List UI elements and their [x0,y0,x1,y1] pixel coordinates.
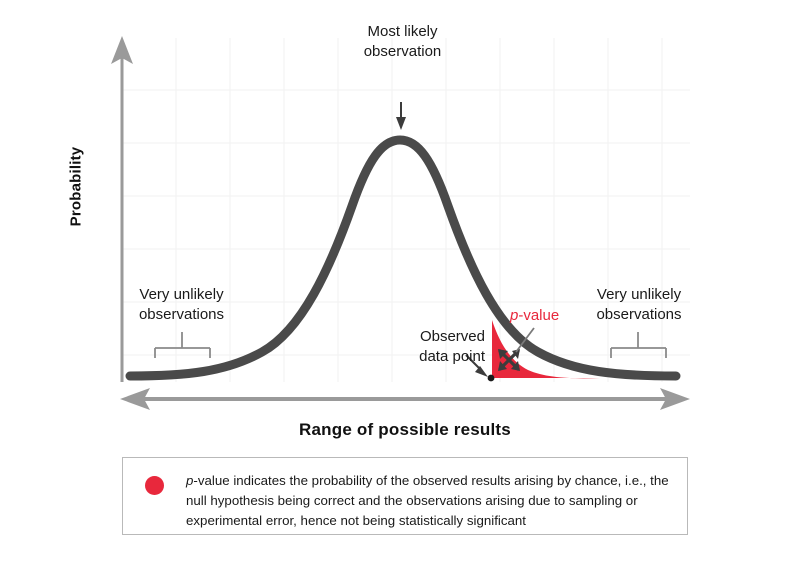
observed-data-point-dot [488,375,495,382]
most-likely-observation-label: Most likely observation [330,22,475,63]
most-likely-arrow [396,102,406,130]
p-value-label-suffix: -value [518,307,559,324]
observed-data-point-label: Observed data point [380,327,485,368]
legend-caption-text: p-value indicates the probability of the… [186,471,669,532]
x-axis-title: Range of possible results [120,420,690,440]
very-unlikely-right-bracket [611,332,666,358]
very-unlikely-right-label: Very unlikely observations [580,285,698,326]
p-value-distribution-figure: Most likely observation Very unlikely ob… [0,0,800,568]
p-value-label: p-value [510,306,559,326]
y-axis [111,36,133,382]
legend-box: p-value indicates the probability of the… [122,457,688,535]
legend-marker-dot [145,476,164,495]
very-unlikely-left-bracket [155,332,210,358]
y-axis-title: Probability [68,107,85,267]
legend-body-text: -value indicates the probability of the … [186,473,669,528]
x-axis [120,388,690,410]
very-unlikely-left-label: Very unlikely observations [124,285,239,326]
